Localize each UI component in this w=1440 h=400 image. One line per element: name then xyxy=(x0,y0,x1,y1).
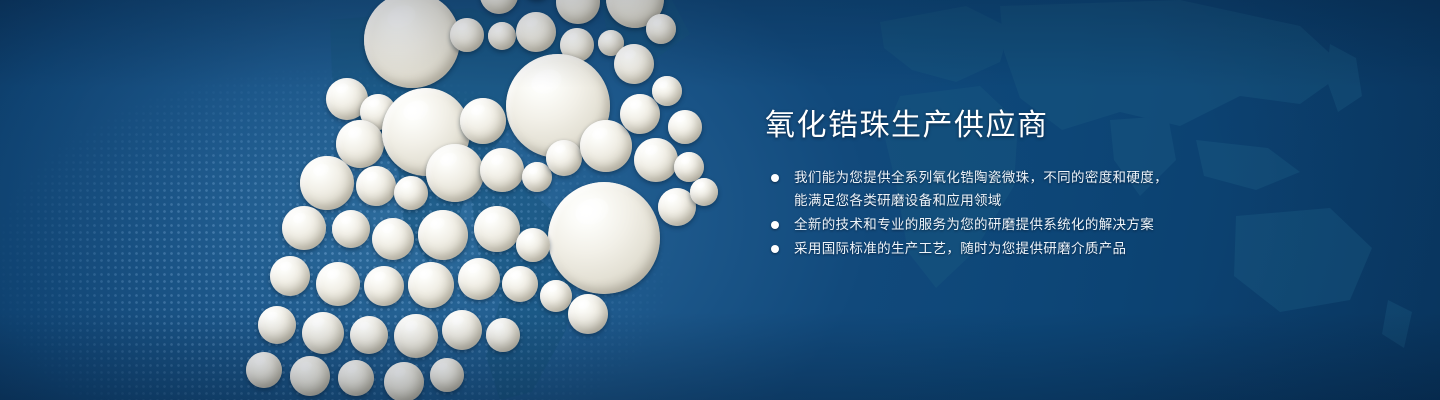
list-item-line-1: 我们能为您提供全系列氧化锆陶瓷微珠，不同的密度和硬度， xyxy=(794,170,1168,185)
list-item: 我们能为您提供全系列氧化锆陶瓷微珠，不同的密度和硬度， 能满足您各类研磨设备和应… xyxy=(768,166,1238,212)
banner-copy: 氧化锆珠生产供应商 我们能为您提供全系列氧化锆陶瓷微珠，不同的密度和硬度， 能满… xyxy=(765,108,1235,143)
hero-banner: 氧化锆珠生产供应商 我们能为您提供全系列氧化锆陶瓷微珠，不同的密度和硬度， 能满… xyxy=(0,0,1440,400)
list-item-line-1: 采用国际标准的生产工艺，随时为您提供研磨介质产品 xyxy=(794,241,1126,256)
list-item: 采用国际标准的生产工艺，随时为您提供研磨介质产品 xyxy=(768,237,1238,260)
bullet-dot-icon xyxy=(771,221,779,229)
feature-list: 我们能为您提供全系列氧化锆陶瓷微珠，不同的密度和硬度， 能满足您各类研磨设备和应… xyxy=(768,166,1238,260)
list-item-line-2: 能满足您各类研磨设备和应用领域 xyxy=(794,189,1238,212)
page-title: 氧化锆珠生产供应商 xyxy=(765,108,1235,143)
list-item-line-1: 全新的技术和专业的服务为您的研磨提供系统化的解决方案 xyxy=(794,217,1154,232)
bullet-dot-icon xyxy=(771,174,779,182)
bullet-dot-icon xyxy=(771,245,779,253)
list-item: 全新的技术和专业的服务为您的研磨提供系统化的解决方案 xyxy=(768,213,1238,236)
